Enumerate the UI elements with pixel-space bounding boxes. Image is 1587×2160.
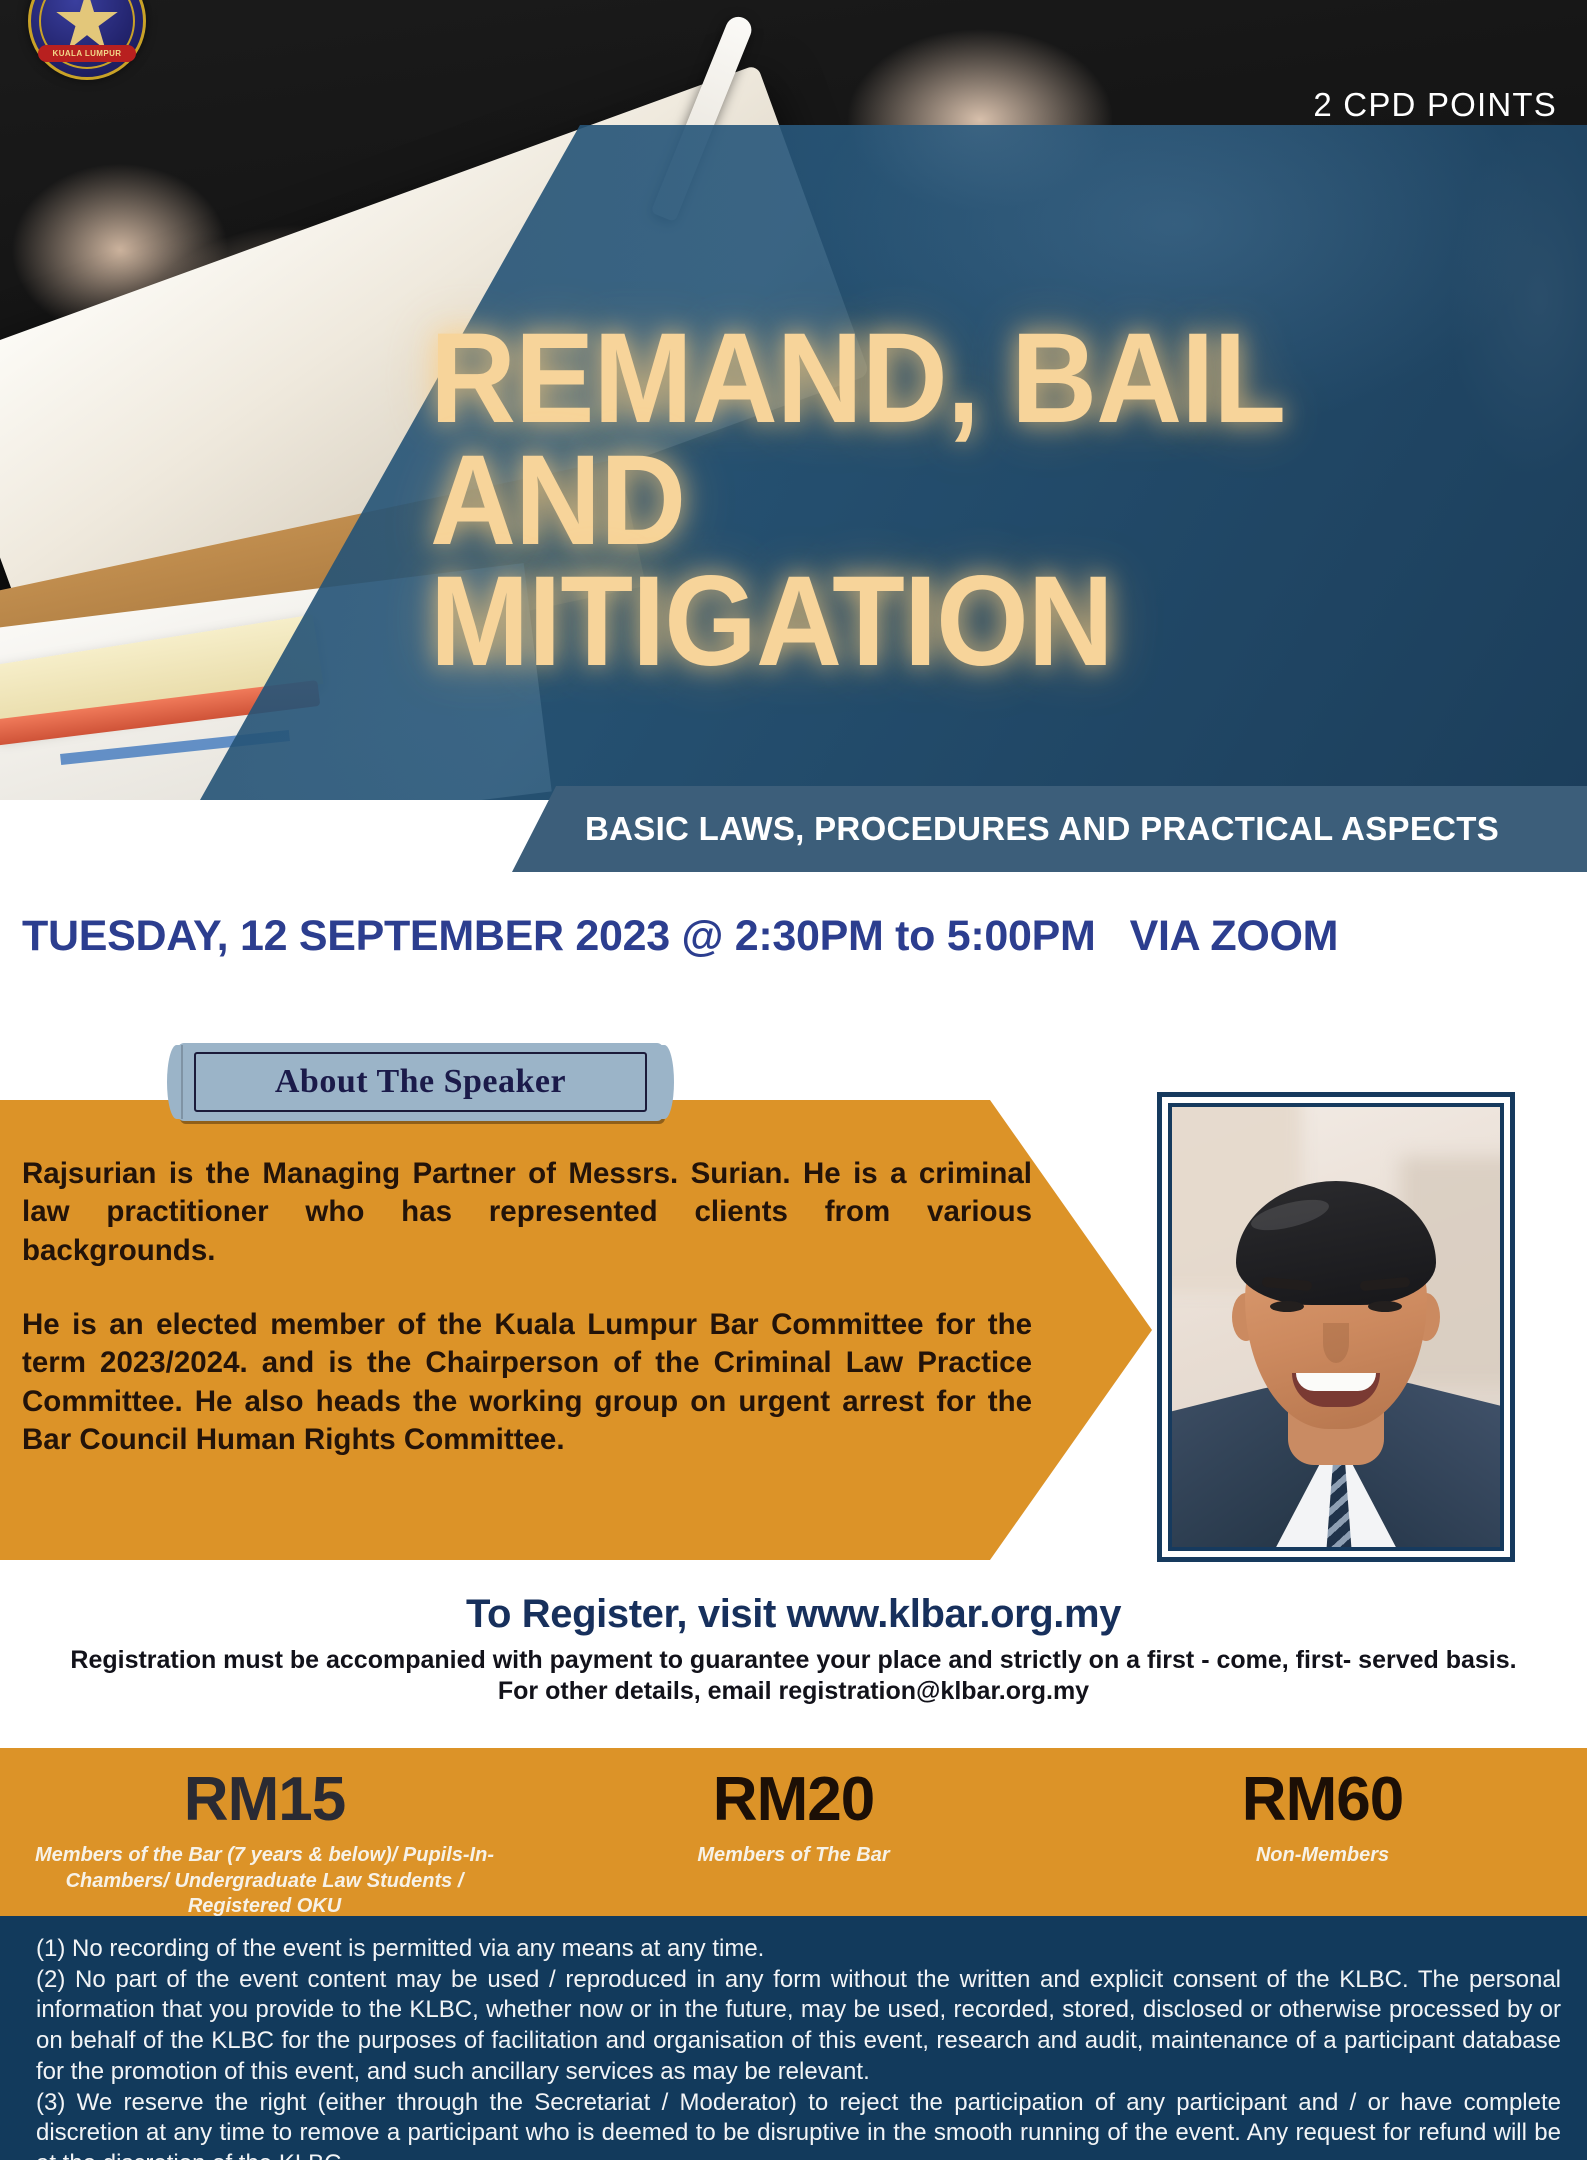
event-poster: 2 CPD POINTS REMAND, BAIL AND MITIGATION… (0, 0, 1587, 2160)
title-line-1: REMAND, BAIL AND (430, 318, 1506, 561)
price-description: Non-Members (1256, 1843, 1389, 1869)
term-item-1: (1) No recording of the event is permitt… (36, 1934, 1561, 1965)
price-amount: RM15 (184, 1764, 345, 1835)
registration-note-line-1: Registration must be accompanied with pa… (0, 1645, 1587, 1676)
teeth (1296, 1373, 1376, 1391)
term-item-3: (3) We reserve the right (either through… (36, 2088, 1561, 2160)
badge-inner-border: About The Speaker (194, 1052, 647, 1112)
kuala-lumpur-bar-logo-icon: JUSTICE THROUGH LAW KUALA LUMPUR (28, 0, 146, 80)
event-date-time: TUESDAY, 12 SEPTEMBER 2023 @ 2:30PM to 5… (22, 912, 1096, 961)
cpd-points-label: 2 CPD POINTS (1313, 86, 1557, 124)
hero-section: 2 CPD POINTS REMAND, BAIL AND MITIGATION (0, 0, 1587, 800)
about-the-speaker-badge: About The Speaker (178, 1043, 663, 1121)
eye-left (1270, 1301, 1304, 1312)
terms-and-conditions: (1) No recording of the event is permitt… (0, 1916, 1587, 2160)
registration-note-line-2: For other details, email registration@kl… (0, 1676, 1587, 1707)
speaker-photo-frame (1157, 1092, 1515, 1562)
pricing-band: RM15 Members of the Bar (7 years & below… (0, 1748, 1587, 1916)
registration-section: To Register, visit www.klbar.org.my Regi… (0, 1592, 1587, 1706)
event-datetime-line: TUESDAY, 12 SEPTEMBER 2023 @ 2:30PM to 5… (0, 898, 1587, 974)
term-item-2: (2) No part of the event content may be … (36, 1965, 1561, 2088)
price-amount: RM60 (1242, 1764, 1403, 1835)
price-amount: RM20 (713, 1764, 874, 1835)
speaker-bio-paragraph-2: He is an elected member of the Kuala Lum… (22, 1306, 1032, 1459)
speaker-photo (1168, 1103, 1504, 1551)
price-description: Members of The Bar (697, 1843, 889, 1869)
registration-title[interactable]: To Register, visit www.klbar.org.my (0, 1592, 1587, 1637)
subtitle-band: BASIC LAWS, PROCEDURES AND PRACTICAL ASP… (0, 786, 1587, 872)
price-description: Members of the Bar (7 years & below)/ Pu… (30, 1843, 500, 1920)
price-tier-3: RM60 Non-Members (1058, 1748, 1587, 1916)
subtitle-text: BASIC LAWS, PROCEDURES AND PRACTICAL ASP… (585, 786, 1499, 872)
event-platform: VIA ZOOM (1130, 912, 1339, 961)
page-title: REMAND, BAIL AND MITIGATION (430, 318, 1506, 683)
speaker-bio-text: Rajsurian is the Managing Partner of Mes… (22, 1155, 1032, 1459)
badge-scallop-left (167, 1045, 183, 1119)
nose (1323, 1323, 1349, 1363)
logo-name-band: KUALA LUMPUR (38, 45, 136, 62)
badge-label: About The Speaker (275, 1063, 566, 1101)
price-tier-2: RM20 Members of The Bar (529, 1748, 1058, 1916)
eye-right (1368, 1301, 1402, 1312)
speaker-bio-paragraph-1: Rajsurian is the Managing Partner of Mes… (22, 1155, 1032, 1270)
price-tier-1: RM15 Members of the Bar (7 years & below… (0, 1748, 529, 1916)
title-line-2: MITIGATION (430, 561, 1506, 683)
registration-details: Registration must be accompanied with pa… (0, 1645, 1587, 1706)
